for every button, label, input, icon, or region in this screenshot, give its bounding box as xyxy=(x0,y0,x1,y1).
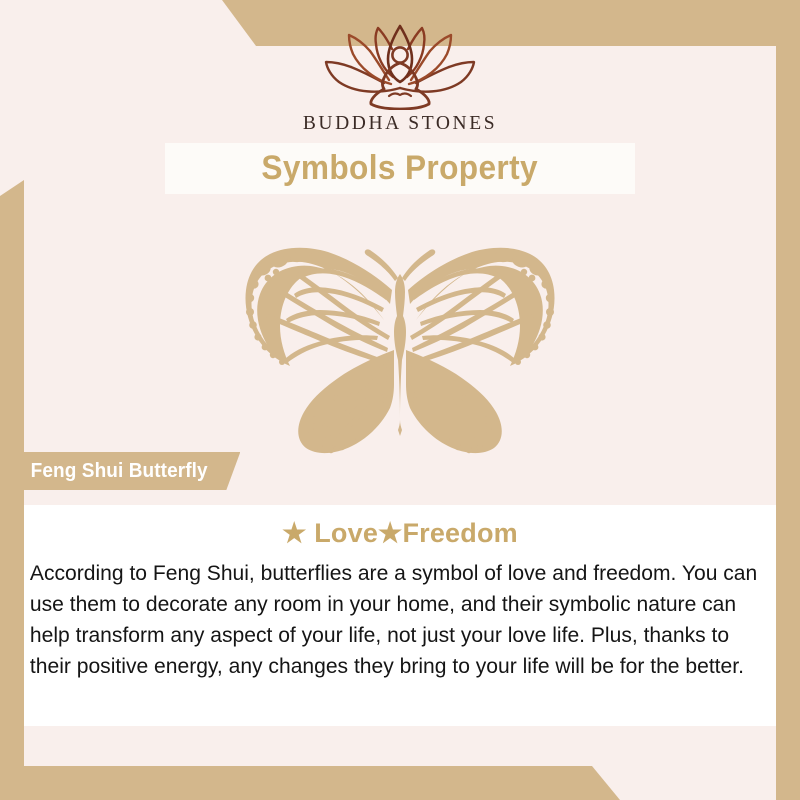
hero-illustration xyxy=(0,232,800,464)
brand-wordmark: BUDDHA STONES xyxy=(303,113,497,135)
card-body-text: According to Feng Shui, butterflies are … xyxy=(24,549,765,682)
category-tag-label: Feng Shui Butterfly xyxy=(31,460,208,483)
frame-band-bottom xyxy=(0,766,800,800)
category-tag: Feng Shui Butterfly xyxy=(0,452,240,490)
card-heading: ★ Love★Freedom xyxy=(24,505,776,549)
lotus-meditating-figure-icon xyxy=(307,22,493,110)
infographic-canvas: BUDDHA STONES Symbols Property xyxy=(0,0,800,800)
page-title: Symbols Property xyxy=(262,149,539,188)
description-card: ★ Love★Freedom According to Feng Shui, b… xyxy=(24,505,776,726)
brand-logo: BUDDHA STONES xyxy=(0,22,800,135)
page-title-box: Symbols Property xyxy=(165,143,635,194)
butterfly-silhouette-icon xyxy=(224,234,576,462)
